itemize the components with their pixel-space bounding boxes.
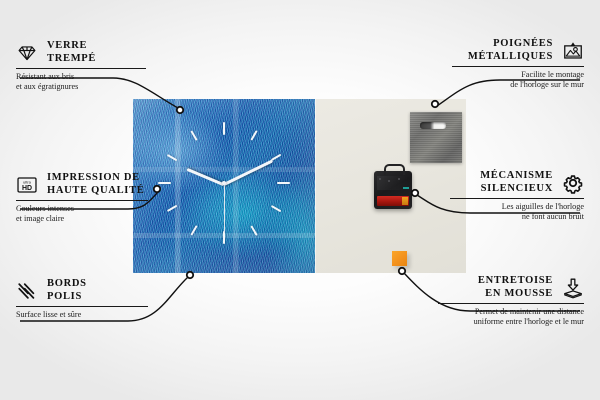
- feature-subtitle: Surface lisse et sûre: [16, 310, 148, 320]
- feature-subtitle: Facilite le montage de l'horloge sur le …: [452, 70, 584, 90]
- feature-divider: [438, 303, 584, 304]
- feature-title: IMPRESSION DE HAUTE QUALITÉ: [47, 172, 145, 197]
- diamond-icon: [16, 42, 38, 64]
- feature-divider: [452, 66, 584, 67]
- feature-title: POIGNÉES MÉTALLIQUES: [468, 38, 553, 63]
- picture-hanger-icon: [562, 40, 584, 62]
- feature-title: ENTRETOISE EN MOUSSE: [478, 275, 553, 300]
- feature-title: BORDS POLIS: [47, 278, 87, 303]
- connector-dot: [399, 268, 405, 274]
- feature-title: VERRE TREMPÉ: [47, 40, 96, 65]
- polished-edges-icon: [16, 280, 38, 302]
- feature-divider: [450, 198, 584, 199]
- feature-header: BORDS POLIS: [16, 278, 148, 303]
- connector-dot: [187, 272, 193, 278]
- connector-dot: [432, 101, 438, 107]
- svg-text:HD: HD: [22, 184, 32, 191]
- feature-header: MÉCANISME SILENCIEUX: [450, 170, 584, 195]
- feature-title: MÉCANISME SILENCIEUX: [480, 170, 553, 195]
- gear-icon: [562, 172, 584, 194]
- feature-divider: [16, 200, 148, 201]
- ultra-hd-icon: ultra HD: [16, 174, 38, 196]
- feature-impression-haute-qualite: ultra HD IMPRESSION DE HAUTE QUALITÉ Cou…: [16, 172, 148, 224]
- feature-subtitle: Résistant aux bris et aux égratignures: [16, 72, 146, 92]
- connector-dot: [177, 107, 183, 113]
- foam-spacer-icon: [562, 277, 584, 299]
- feature-subtitle: Couleurs intenses et image claire: [16, 204, 148, 224]
- feature-header: POIGNÉES MÉTALLIQUES: [452, 38, 584, 63]
- feature-divider: [16, 68, 146, 69]
- feature-subtitle: Permet de maintenir une distance uniform…: [438, 307, 584, 327]
- feature-subtitle: Les aiguilles de l'horloge ne font aucun…: [450, 202, 584, 222]
- feature-header: ENTRETOISE EN MOUSSE: [438, 275, 584, 300]
- feature-bords-polis: BORDS POLIS Surface lisse et sûre: [16, 278, 148, 320]
- infographic-canvas: VERRE TREMPÉ Résistant aux bris et aux é…: [0, 0, 600, 400]
- feature-header: ultra HD IMPRESSION DE HAUTE QUALITÉ: [16, 172, 148, 197]
- feature-divider: [16, 306, 148, 307]
- svg-text:ultra: ultra: [23, 179, 31, 184]
- feature-verre-trempe: VERRE TREMPÉ Résistant aux bris et aux é…: [16, 40, 146, 92]
- feature-entretoise-en-mousse: ENTRETOISE EN MOUSSE Permet de maintenir…: [438, 275, 584, 327]
- feature-mecanisme-silencieux: MÉCANISME SILENCIEUX Les aiguilles de l'…: [450, 170, 584, 222]
- feature-header: VERRE TREMPÉ: [16, 40, 146, 65]
- connector-dot: [154, 186, 160, 192]
- feature-poignees-metalliques: POIGNÉES MÉTALLIQUES Facilite le montage…: [452, 38, 584, 90]
- connector-dot: [412, 190, 418, 196]
